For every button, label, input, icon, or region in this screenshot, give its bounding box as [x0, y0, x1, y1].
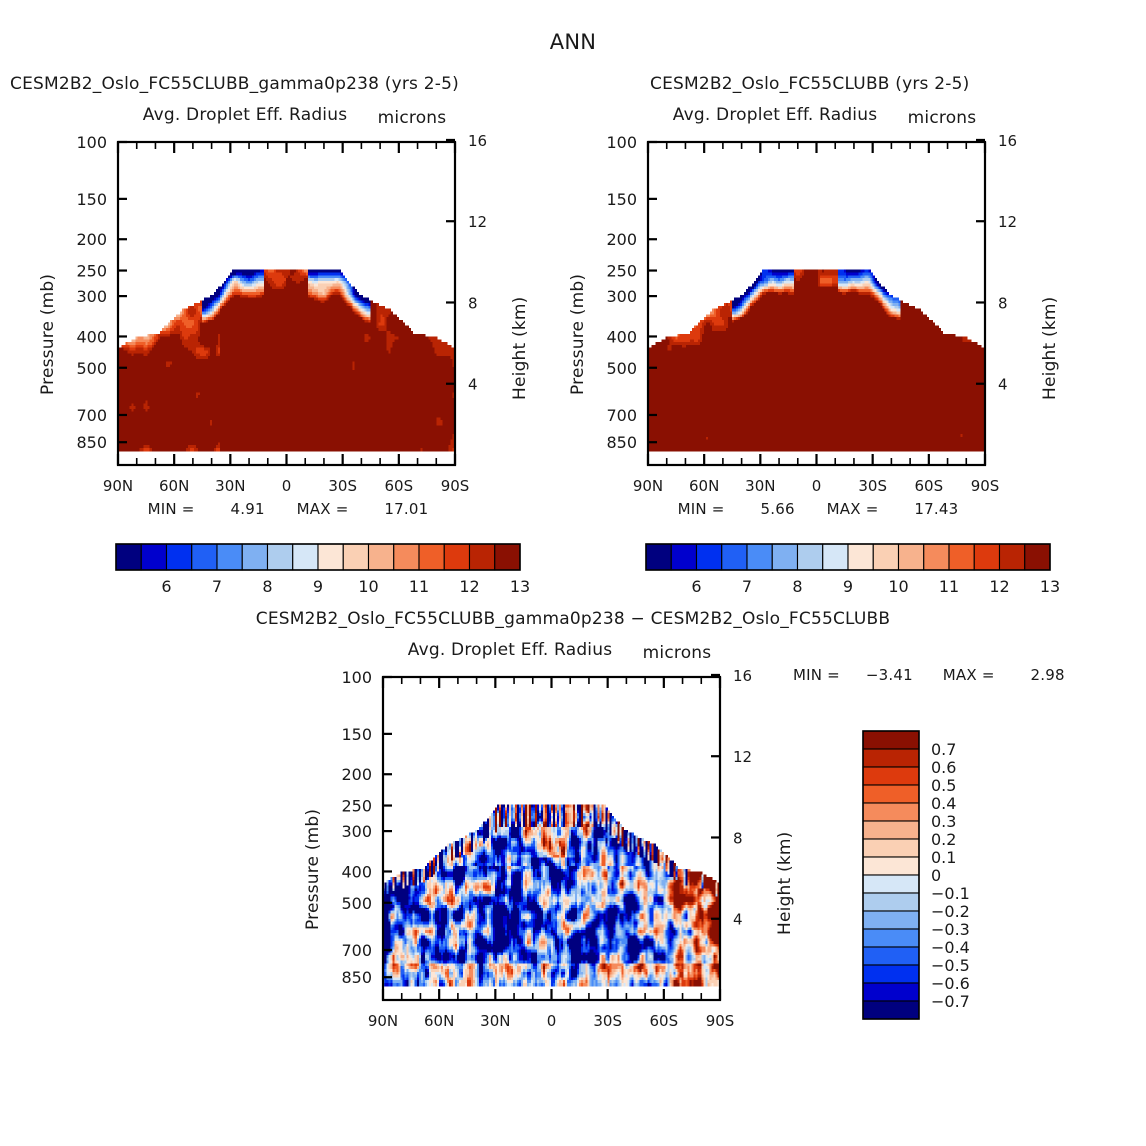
colorbar-cell — [747, 544, 772, 570]
lat-tick-label: 30N — [745, 477, 775, 495]
min-value: 5.66 — [761, 500, 795, 518]
pressure-tick-label: 700 — [341, 941, 372, 960]
lat-tick-label: 30N — [480, 1012, 510, 1030]
lat-tick-label: 0 — [282, 477, 292, 495]
colorbar-cell — [949, 544, 974, 570]
height-tick-label: 4 — [468, 376, 478, 394]
pressure-tick-label: 150 — [76, 190, 107, 209]
colorbar-cell — [863, 875, 919, 893]
lat-tick-label: 30N — [215, 477, 245, 495]
panel-plot: 10015020025030040050070085016128490N60N3… — [530, 120, 1090, 540]
lat-tick-label: 30S — [593, 1012, 622, 1030]
contour-field — [648, 270, 986, 452]
colorbar-absolute: 678910111213 — [640, 540, 1060, 610]
colorbar-cell — [863, 749, 919, 767]
colorbar-cell — [318, 544, 343, 570]
colorbar-cell — [192, 544, 217, 570]
height-tick-label: 4 — [998, 376, 1008, 394]
colorbar-cell — [863, 929, 919, 947]
pressure-tick-label: 100 — [606, 133, 637, 152]
colorbar-tick-label: −0.4 — [931, 938, 970, 957]
colorbar-cell — [141, 544, 166, 570]
height-tick-label: 16 — [998, 132, 1017, 150]
colorbar-tick-label: 7 — [212, 577, 222, 596]
colorbar-tick-label: 0.6 — [931, 758, 956, 777]
colorbar-tick-label: 8 — [262, 577, 272, 596]
colorbar-tick-label: 0.1 — [931, 848, 956, 867]
colorbar-cell — [419, 544, 444, 570]
colorbar-cell — [924, 544, 949, 570]
minmax-line: MIN = 4.91 MAX = 17.01 — [148, 500, 429, 518]
height-tick-label: 16 — [468, 132, 487, 150]
colorbar-cell — [823, 544, 848, 570]
pressure-tick-label: 850 — [76, 433, 107, 452]
pressure-tick-label: 400 — [341, 862, 372, 881]
colorbar: 678910111213 — [646, 544, 1060, 596]
colorbar-tick-label: 8 — [792, 577, 802, 596]
pressure-tick-label: 300 — [606, 287, 637, 306]
contour-field — [383, 805, 721, 987]
colorbar-cell — [697, 544, 722, 570]
pressure-tick-label: 150 — [341, 725, 372, 744]
min-value: 4.91 — [231, 500, 265, 518]
pressure-tick-label: 250 — [76, 262, 107, 281]
pressure-tick-label: 200 — [606, 230, 637, 249]
colorbar-cell — [863, 983, 919, 1001]
colorbar-tick-label: 12 — [459, 577, 479, 596]
pressure-tick-label: 100 — [341, 668, 372, 687]
colorbar-tick-label: 13 — [1040, 577, 1060, 596]
pressure-tick-label: 300 — [76, 287, 107, 306]
colorbar-cell — [772, 544, 797, 570]
max-value: 17.01 — [384, 500, 428, 518]
lat-tick-label: 90S — [441, 477, 470, 495]
min-label: MIN = — [678, 500, 725, 518]
colorbar-cell — [863, 947, 919, 965]
colorbar-cell — [470, 544, 495, 570]
colorbar: 0.70.60.50.40.30.20.10−0.1−0.2−0.3−0.4−0… — [863, 731, 970, 1019]
min-label: MIN = — [148, 500, 195, 518]
pressure-tick-label: 250 — [606, 262, 637, 281]
colorbar-tick-label: 7 — [742, 577, 752, 596]
contour-field — [118, 270, 456, 452]
minmax-line: MIN = −3.41 MAX = 2.98 — [793, 666, 1065, 684]
colorbar-cell — [863, 965, 919, 983]
colorbar-cell — [394, 544, 419, 570]
colorbar-cell — [444, 544, 469, 570]
colorbar-tick-label: 0.2 — [931, 830, 956, 849]
pressure-tick-label: 700 — [76, 406, 107, 425]
colorbar-cell — [646, 544, 671, 570]
lat-tick-label: 90N — [103, 477, 133, 495]
colorbar-cell — [974, 544, 999, 570]
colorbar-absolute: 678910111213 — [110, 540, 530, 610]
colorbar-tick-label: −0.5 — [931, 956, 970, 975]
colorbar-cell — [863, 767, 919, 785]
lat-tick-label: 60S — [650, 1012, 679, 1030]
colorbar-tick-label: 0 — [931, 866, 941, 885]
colorbar-tick-label: 0.3 — [931, 812, 956, 831]
colorbar-cell — [167, 544, 192, 570]
colorbar-cell — [217, 544, 242, 570]
max-value: 17.43 — [914, 500, 958, 518]
colorbar-tick-label: 11 — [409, 577, 429, 596]
max-label: MAX = — [827, 500, 879, 518]
max-value: 2.98 — [1031, 666, 1065, 684]
colorbar-cell — [116, 544, 141, 570]
colorbar-tick-label: 9 — [313, 577, 323, 596]
colorbar-cell — [863, 911, 919, 929]
lat-tick-label: 60N — [159, 477, 189, 495]
height-tick-label: 12 — [998, 213, 1017, 231]
minmax-line: MIN = 5.66 MAX = 17.43 — [678, 500, 959, 518]
panel-title: CESM2B2_Oslo_FC55CLUBB (yrs 2-5) — [650, 74, 969, 94]
pressure-tick-label: 200 — [76, 230, 107, 249]
colorbar-cell — [863, 785, 919, 803]
pressure-tick-label: 100 — [76, 133, 107, 152]
colorbar-tick-label: 6 — [691, 577, 701, 596]
lat-tick-label: 90S — [971, 477, 1000, 495]
colorbar-cell — [899, 544, 924, 570]
height-tick-label: 12 — [468, 213, 487, 231]
colorbar-cell — [798, 544, 823, 570]
lat-tick-label: 90N — [633, 477, 663, 495]
pressure-tick-label: 700 — [606, 406, 637, 425]
colorbar-tick-label: 0.7 — [931, 740, 956, 759]
colorbar-tick-label: −0.2 — [931, 902, 970, 921]
height-tick-label: 8 — [733, 829, 743, 847]
colorbar-tick-label: 6 — [161, 577, 171, 596]
colorbar-tick-label: −0.3 — [931, 920, 970, 939]
height-tick-label: 8 — [468, 294, 478, 312]
colorbar-cell — [848, 544, 873, 570]
colorbar-tick-label: 11 — [939, 577, 959, 596]
colorbar-cell — [671, 544, 696, 570]
colorbar-tick-label: 0.4 — [931, 794, 956, 813]
colorbar-difference: 0.70.60.50.40.30.20.10−0.1−0.2−0.3−0.4−0… — [855, 725, 1055, 1045]
height-tick-label: 4 — [733, 911, 743, 929]
pressure-tick-label: 400 — [76, 327, 107, 346]
pressure-tick-label: 850 — [606, 433, 637, 452]
max-label: MAX = — [297, 500, 349, 518]
colorbar-tick-label: −0.7 — [931, 992, 970, 1011]
colorbar-cell — [863, 803, 919, 821]
colorbar-cell — [722, 544, 747, 570]
panel-title: CESM2B2_Oslo_FC55CLUBB_gamma0p238 − CESM… — [256, 609, 891, 629]
pressure-tick-label: 250 — [341, 797, 372, 816]
pressure-tick-label: 300 — [341, 822, 372, 841]
colorbar: 678910111213 — [116, 544, 530, 596]
colorbar-tick-label: 9 — [843, 577, 853, 596]
pressure-tick-label: 850 — [341, 968, 372, 987]
colorbar-cell — [293, 544, 318, 570]
colorbar-tick-label: 0.5 — [931, 776, 956, 795]
lat-tick-label: 60S — [915, 477, 944, 495]
colorbar-tick-label: 12 — [989, 577, 1009, 596]
colorbar-cell — [863, 1001, 919, 1019]
colorbar-tick-label: 13 — [510, 577, 530, 596]
pressure-tick-label: 500 — [76, 359, 107, 378]
colorbar-cell — [873, 544, 898, 570]
lat-tick-label: 0 — [547, 1012, 557, 1030]
lat-tick-label: 0 — [812, 477, 822, 495]
min-value: −3.41 — [866, 666, 913, 684]
colorbar-cell — [495, 544, 520, 570]
colorbar-cell — [1000, 544, 1025, 570]
pressure-tick-label: 150 — [606, 190, 637, 209]
lat-tick-label: 60S — [385, 477, 414, 495]
colorbar-tick-label: −0.1 — [931, 884, 970, 903]
lat-tick-label: 30S — [328, 477, 357, 495]
colorbar-tick-label: 10 — [358, 577, 378, 596]
lat-tick-label: 90S — [706, 1012, 735, 1030]
colorbar-cell — [343, 544, 368, 570]
colorbar-tick-label: 10 — [888, 577, 908, 596]
pressure-tick-label: 500 — [341, 894, 372, 913]
pressure-tick-label: 200 — [341, 765, 372, 784]
lat-tick-label: 90N — [368, 1012, 398, 1030]
colorbar-cell — [863, 857, 919, 875]
pressure-tick-label: 500 — [606, 359, 637, 378]
colorbar-cell — [242, 544, 267, 570]
colorbar-cell — [268, 544, 293, 570]
season-title: ANN — [550, 30, 596, 54]
panel-plot: 10015020025030040050070085016128490N60N3… — [265, 655, 825, 1075]
height-tick-label: 8 — [998, 294, 1008, 312]
lat-tick-label: 60N — [424, 1012, 454, 1030]
max-label: MAX = — [943, 666, 995, 684]
pressure-tick-label: 400 — [606, 327, 637, 346]
colorbar-cell — [369, 544, 394, 570]
height-tick-label: 16 — [733, 667, 752, 685]
panel-plot: 10015020025030040050070085016128490N60N3… — [0, 120, 560, 540]
colorbar-tick-label: −0.6 — [931, 974, 970, 993]
colorbar-cell — [1025, 544, 1050, 570]
panel-title: CESM2B2_Oslo_FC55CLUBB_gamma0p238 (yrs 2… — [10, 74, 459, 94]
colorbar-cell — [863, 821, 919, 839]
height-tick-label: 12 — [733, 748, 752, 766]
min-label: MIN = — [793, 666, 840, 684]
colorbar-cell — [863, 731, 919, 749]
lat-tick-label: 60N — [689, 477, 719, 495]
colorbar-cell — [863, 839, 919, 857]
colorbar-cell — [863, 893, 919, 911]
lat-tick-label: 30S — [858, 477, 887, 495]
